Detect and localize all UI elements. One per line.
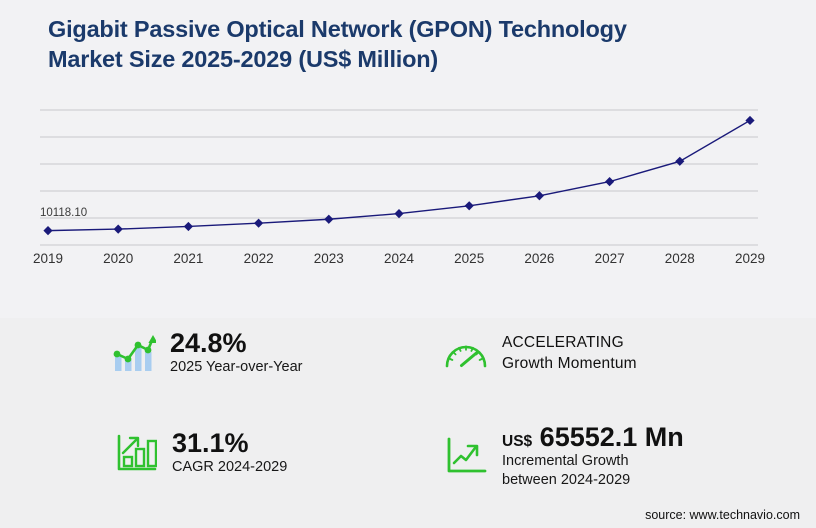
stat-incremental-amount: 65552.1 Mn [540,422,684,452]
stat-momentum: ACCELERATING Growth Momentum [444,332,637,376]
infographic-root: Gigabit Passive Optical Network (GPON) T… [0,0,816,528]
speedometer-icon [444,332,488,376]
x-tick-2020: 2020 [103,251,133,266]
stat-incremental: US$ 65552.1 Mn Incremental Growth betwee… [444,422,684,490]
stat-momentum-text: ACCELERATING Growth Momentum [502,333,637,375]
x-tick-2025: 2025 [454,251,484,266]
stat-yoy-value: 24.8% [170,328,302,358]
x-tick-2026: 2026 [524,251,554,266]
chart-data-point-2025 [465,201,474,210]
stat-incremental-value: US$ 65552.1 Mn [502,422,684,452]
bar-chart-arrow-icon [114,431,158,475]
data-point-label-2019: 10118.10 [40,207,87,219]
chart-data-point-2021 [184,222,193,231]
stat-incremental-text: US$ 65552.1 Mn Incremental Growth betwee… [502,422,684,490]
page-title: Gigabit Passive Optical Network (GPON) T… [48,14,748,74]
x-tick-2021: 2021 [173,251,203,266]
source-note: source: www.technavio.com [645,508,800,522]
growth-bars-line-icon [112,331,156,375]
chart-data-point-2026 [535,191,544,200]
chart-data-point-2022 [254,219,263,228]
x-tick-2022: 2022 [244,251,274,266]
x-tick-2023: 2023 [314,251,344,266]
stat-cagr-text: 31.1% CAGR 2024-2029 [172,428,287,477]
chart-data-point-2027 [605,177,614,186]
chart-data-point-2028 [675,157,684,166]
stat-cagr-value: 31.1% [172,428,287,458]
stat-incremental-caption: Incremental Growth between 2024-2029 [502,452,684,490]
stat-cagr: 31.1% CAGR 2024-2029 [114,428,287,477]
x-axis-tick-labels: 2019202020212022202320242025202620272028… [0,251,816,275]
stat-yoy: 24.8% 2025 Year-over-Year [112,328,302,377]
stat-yoy-caption: 2025 Year-over-Year [170,358,302,377]
x-tick-2028: 2028 [665,251,695,266]
stats-panel: 24.8% 2025 Year-over-Year [0,318,816,528]
chart-gridlines [40,110,758,245]
line-growth-arrow-icon [444,434,488,478]
chart-data-point-2020 [114,225,123,234]
chart-data-point-2029 [745,116,754,125]
chart-data-point-2024 [394,209,403,218]
title-block: Gigabit Passive Optical Network (GPON) T… [48,14,748,74]
stat-cagr-caption: CAGR 2024-2029 [172,458,287,477]
x-tick-2019: 2019 [33,251,63,266]
stat-momentum-head: ACCELERATING [502,333,637,354]
stat-yoy-text: 24.8% 2025 Year-over-Year [170,328,302,377]
x-tick-2027: 2027 [595,251,625,266]
chart-data-markers [43,116,754,235]
chart-data-point-2023 [324,215,333,224]
chart-data-point-2019 [43,226,52,235]
stat-momentum-caption: Growth Momentum [502,354,637,375]
x-tick-2029: 2029 [735,251,765,266]
x-tick-2024: 2024 [384,251,414,266]
stat-incremental-unit: US$ [502,433,532,450]
